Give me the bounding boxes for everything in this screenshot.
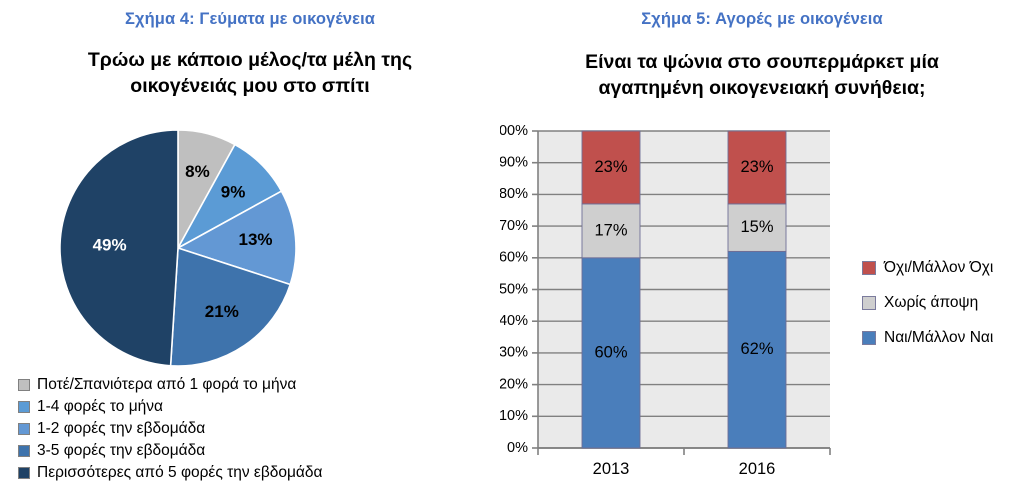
y-axis: 0%10%20%30%40%50%60%70%80%90%100% [500, 123, 538, 456]
y-axis-tick-label: 90% [500, 155, 528, 171]
pie-legend-swatch [18, 379, 30, 391]
pie-slice-label: 9% [221, 182, 246, 201]
pie-legend-label: 1-4 φορές το μήνα [37, 398, 163, 416]
bar-legend-swatch [862, 296, 876, 310]
y-axis-tick-label: 10% [500, 408, 528, 424]
bar-segment-label: 23% [594, 158, 627, 176]
bar-segment-label: 15% [740, 218, 773, 236]
pie-slice-label: 49% [93, 235, 127, 254]
bar-segment-label: 23% [740, 158, 773, 176]
pie-legend-item: Ποτέ/Σπανιότερα από 1 φορά το μήνα [18, 374, 418, 396]
stacked-bar-chart: 0%10%20%30%40%50%60%70%80%90%100% 60%17%… [500, 0, 1024, 493]
y-axis-tick-label: 40% [500, 313, 528, 329]
x-axis-tick-labels: 20132016 [593, 460, 776, 478]
pie-legend-item: 1-2 φορές την εβδομάδα [18, 418, 418, 440]
bar-legend-swatch [862, 261, 876, 275]
pie-legend-swatch [18, 423, 30, 435]
bar-chart-svg: 0%10%20%30%40%50%60%70%80%90%100% 60%17%… [500, 0, 1024, 493]
pie-legend-item: 3-5 φορές την εβδομάδα [18, 440, 418, 462]
y-axis-tick-label: 30% [500, 345, 528, 361]
pie-legend-swatch [18, 445, 30, 457]
bar-segment-label: 17% [594, 221, 627, 239]
bar-legend-item: Ναι/Μάλλον Ναι [862, 320, 1024, 355]
pie-chart-title-line-1: Τρώω με κάποιο μέλος/τα μέλη της [8, 48, 492, 74]
bar-legend-label: Χωρίς άποψη [884, 294, 978, 312]
pie-chart: 8%9%13%21%49% [58, 128, 298, 368]
bar-legend-label: Ναι/Μάλλον Ναι [884, 329, 993, 347]
pie-legend-swatch [18, 467, 30, 479]
figure-4-panel: Σχήμα 4: Γεύματα με οικογένεια Τρώω με κ… [0, 0, 500, 493]
figure-4-label: Σχήμα 4: Γεύματα με οικογένεια [0, 10, 500, 29]
y-axis-tick-label: 80% [500, 186, 528, 202]
y-axis-tick-label: 50% [500, 281, 528, 297]
bar-legend-swatch [862, 331, 876, 345]
bar-segment-label: 60% [594, 343, 627, 361]
x-axis-tick-label: 2016 [739, 460, 776, 478]
y-axis-tick-label: 0% [507, 440, 528, 456]
bar-segment-label: 62% [740, 340, 773, 358]
pie-legend-label: 3-5 φορές την εβδομάδα [37, 442, 205, 460]
x-axis-tick-label: 2013 [593, 460, 630, 478]
pie-legend-swatch [18, 401, 30, 413]
y-axis-tick-label: 100% [500, 123, 528, 139]
pie-slice-label: 13% [238, 230, 272, 249]
pie-legend-label: Περισσότερες από 5 φορές την εβδομάδα [37, 464, 322, 482]
pie-legend: Ποτέ/Σπανιότερα από 1 φορά το μήνα1-4 φο… [18, 374, 418, 484]
figure-5-panel: Σχήμα 5: Αγορές με οικογένεια Είναι τα ψ… [500, 0, 1024, 493]
pie-legend-label: 1-2 φορές την εβδομάδα [37, 420, 205, 438]
pie-chart-title: Τρώω με κάποιο μέλος/τα μέλη της οικογέν… [0, 48, 500, 99]
bar-legend-label: Όχι/Μάλλον Όχι [884, 259, 993, 277]
bar-legend-item: Όχι/Μάλλον Όχι [862, 250, 1024, 285]
y-axis-tick-label: 60% [500, 250, 528, 266]
pie-chart-title-line-2: οικογένειάς μου στο σπίτι [8, 74, 492, 100]
pie-legend-label: Ποτέ/Σπανιότερα από 1 φορά το μήνα [37, 376, 296, 394]
y-axis-tick-label: 20% [500, 376, 528, 392]
pie-slice-label: 21% [205, 302, 239, 321]
bar-legend-item: Χωρίς άποψη [862, 285, 1024, 320]
x-axis [538, 448, 830, 455]
bar-legend: Όχι/Μάλλον ΌχιΧωρίς άποψηΝαι/Μάλλον Ναι [862, 250, 1024, 355]
pie-legend-item: Περισσότερες από 5 φορές την εβδομάδα [18, 462, 418, 484]
pie-chart-svg: 8%9%13%21%49% [58, 128, 298, 368]
pie-legend-item: 1-4 φορές το μήνα [18, 396, 418, 418]
pie-slice-label: 8% [185, 162, 210, 181]
y-axis-tick-label: 70% [500, 218, 528, 234]
